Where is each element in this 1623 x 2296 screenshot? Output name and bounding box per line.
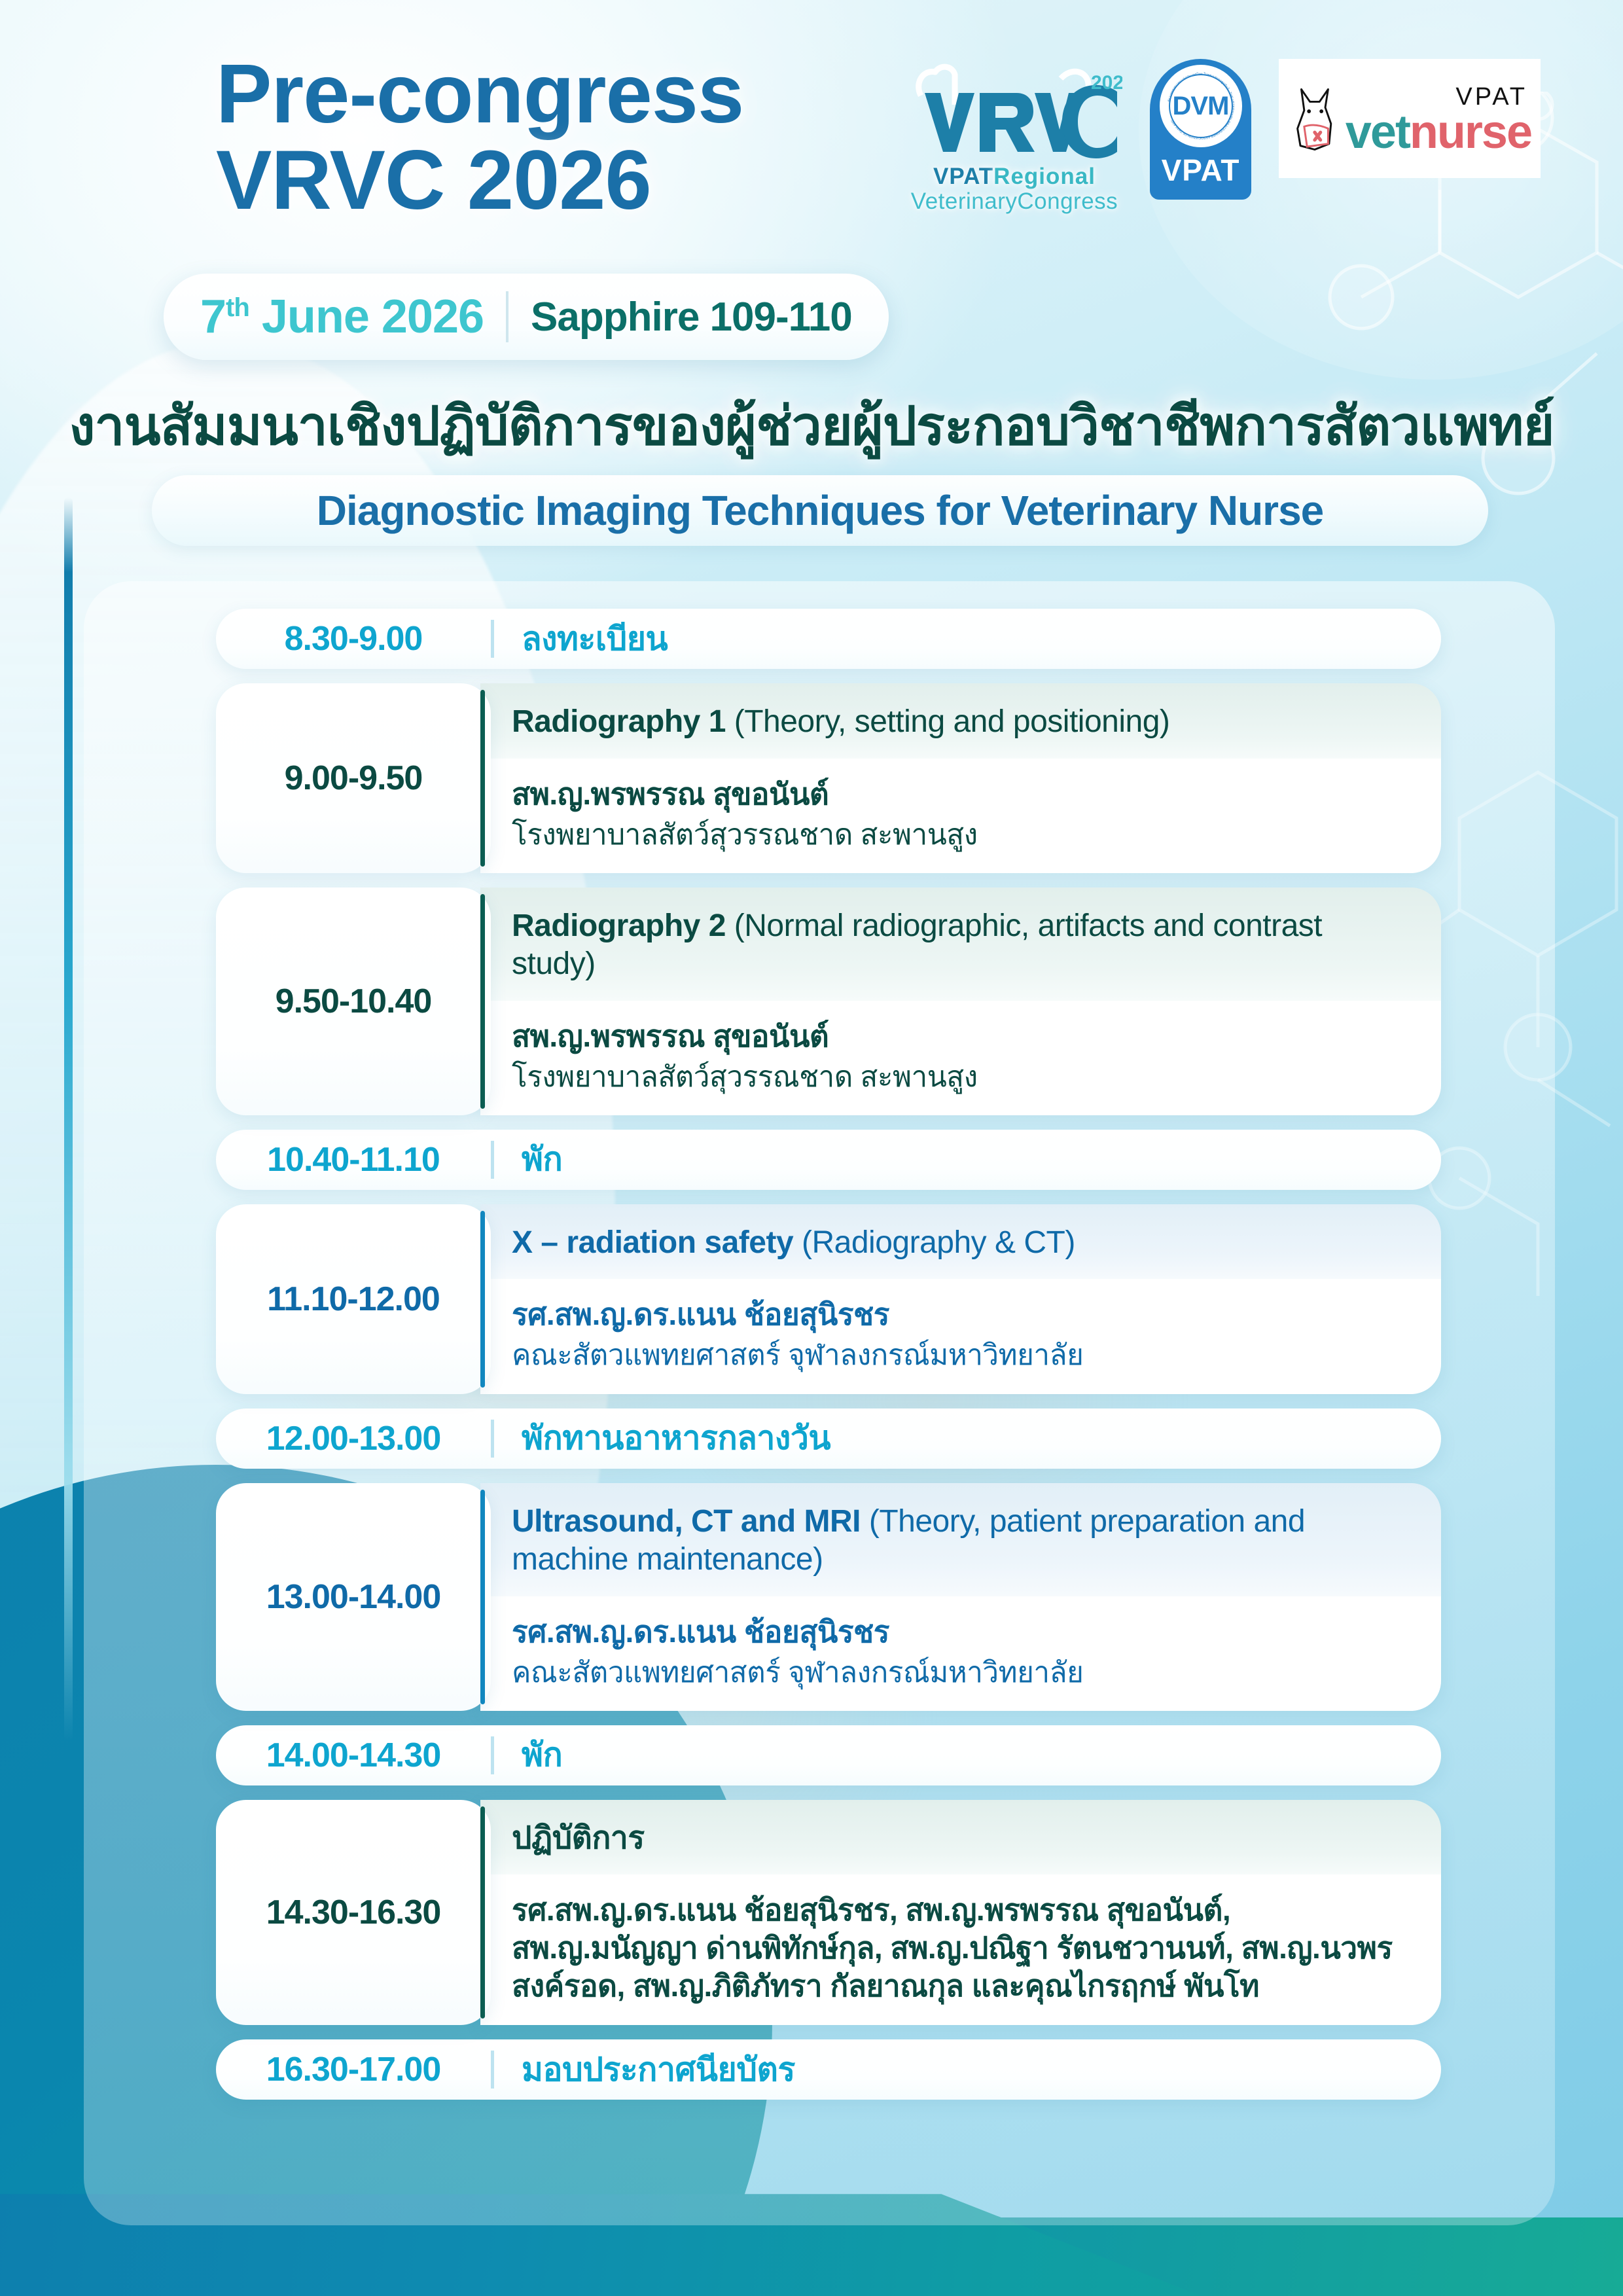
break-row-time: 12.00-13.00 xyxy=(216,1419,491,1458)
schedule-break-row: 8.30-9.00ลงทะเบียน xyxy=(216,609,1441,669)
schedule-break-row: 14.00-14.30พัก xyxy=(216,1725,1441,1785)
session-speaker-name: สพ.ญ.พรพรรณ สุขอนันต์ xyxy=(512,1018,1407,1056)
schedule-break-row: 12.00-13.00พักทานอาหารกลางวัน xyxy=(216,1408,1441,1469)
event-date: 7th June 2026 xyxy=(200,290,484,344)
session-topic-title: X – radiation safety xyxy=(512,1225,802,1260)
session-time-card: 9.00-9.50 xyxy=(216,683,491,873)
schedule-session-row: 14.30-16.30ปฏิบัติการรศ.สพ.ญ.ดร.แนน ช้อย… xyxy=(216,1800,1441,2025)
vrvc-sub-bold: VPAT xyxy=(933,164,993,189)
break-row-time: 8.30-9.00 xyxy=(216,619,491,658)
session-speaker-name: รศ.สพ.ญ.ดร.แนน ช้อยสุนิรชร xyxy=(512,1613,1407,1651)
poster-canvas: Pre-congress VRVC 2026 2026 xyxy=(0,0,1623,2296)
schedule-break-row: 16.30-17.00มอบประกาศนียบัตร xyxy=(216,2039,1441,2100)
break-row-time: 14.00-14.30 xyxy=(216,1736,491,1775)
vrvc-subtitle-line2: VeterinaryCongress xyxy=(906,188,1122,215)
session-topic: X – radiation safety (Radiography & CT) xyxy=(480,1204,1441,1280)
session-speaker-name: สพ.ญ.พรพรรณ สุขอนันต์ xyxy=(512,776,1407,814)
title-line-1: Pre-congress xyxy=(216,51,890,137)
session-speaker-affiliation: โรงพยาบาลสัตว์สุวรรณชาด สะพานสูง xyxy=(512,816,1407,853)
vpat-dvm-logo: สัตวแพทยสมาคมแห่งประเทศไทย ในพระบรมราชูป… xyxy=(1150,59,1251,200)
break-row-label: มอบประกาศนียบัตร xyxy=(494,2044,795,2096)
session-speaker-affiliation: โรงพยาบาลสัตว์สุวรรณชาด สะพานสูง xyxy=(512,1058,1407,1096)
session-accent-bar xyxy=(480,1490,485,1704)
title-line-2: VRVC 2026 xyxy=(216,137,890,224)
vpat-badge-word: VPAT xyxy=(1162,152,1240,188)
date-day: 7 xyxy=(200,291,226,343)
schedule-session-row: 11.10-12.00X – radiation safety (Radiogr… xyxy=(216,1204,1441,1394)
session-speaker-affiliation: คณะสัตวแพทยศาสตร์ จุฬาลงกรณ์มหาวิทยาลัย xyxy=(512,1336,1407,1374)
session-content: Radiography 2 (Normal radiographic, arti… xyxy=(480,888,1441,1115)
session-speaker-block: สพ.ญ.พรพรรณ สุขอนันต์โรงพยาบาลสัตว์สุวรร… xyxy=(480,759,1441,873)
break-row-label: พัก xyxy=(494,1134,562,1185)
session-topic-title: ปฏิบัติการ xyxy=(512,1821,645,1856)
dog-nurse-icon xyxy=(1288,69,1342,168)
break-row-body: 8.30-9.00ลงทะเบียน xyxy=(216,609,1441,669)
session-accent-bar xyxy=(480,1806,485,2018)
session-time-card: 9.50-10.40 xyxy=(216,888,491,1115)
session-topic: Radiography 2 (Normal radiographic, arti… xyxy=(480,888,1441,1001)
session-speaker-affiliation: คณะสัตวแพทยศาสตร์ จุฬาลงกรณ์มหาวิทยาลัย xyxy=(512,1654,1407,1691)
session-speaker-block: รศ.สพ.ญ.ดร.แนน ช้อยสุนิรชรคณะสัตวแพทยศาส… xyxy=(480,1596,1441,1711)
vpat-badge: สัตวแพทยสมาคมแห่งประเทศไทย ในพระบรมราชูป… xyxy=(1150,59,1251,200)
vrvc-logo: 2026 VPATRegional VeterinaryCongress xyxy=(906,59,1122,215)
session-time: 9.00-9.50 xyxy=(285,759,423,798)
session-row-body: 14.30-16.30ปฏิบัติการรศ.สพ.ญ.ดร.แนน ช้อย… xyxy=(216,1800,1441,2025)
session-topic-title: Radiography 2 xyxy=(512,908,734,943)
vrvc-mark-icon: 2026 xyxy=(906,59,1122,164)
page-title: Pre-congress VRVC 2026 xyxy=(216,51,890,224)
session-time: 9.50-10.40 xyxy=(276,982,432,1021)
session-speaker-block: รศ.สพ.ญ.ดร.แนน ช้อยสุนิรชร, สพ.ญ.พรพรรณ … xyxy=(480,1874,1441,2025)
session-topic: Radiography 1 (Theory, setting and posit… xyxy=(480,683,1441,759)
session-time-card: 11.10-12.00 xyxy=(216,1204,491,1394)
session-content: Ultrasound, CT and MRI (Theory, patient … xyxy=(480,1483,1441,1711)
date-ordinal-suffix: th xyxy=(226,293,249,322)
subtitle-text: Diagnostic Imaging Techniques for Veteri… xyxy=(317,486,1324,535)
schedule-session-row: 9.00-9.50Radiography 1 (Theory, setting … xyxy=(216,683,1441,873)
break-row-time: 16.30-17.00 xyxy=(216,2050,491,2089)
session-speaker-block: สพ.ญ.พรพรรณ สุขอนันต์โรงพยาบาลสัตว์สุวรร… xyxy=(480,1001,1441,1115)
session-content: X – radiation safety (Radiography & CT)ร… xyxy=(480,1204,1441,1394)
session-topic: ปฏิบัติการ xyxy=(480,1800,1441,1875)
vpat-seal-inner: DVM xyxy=(1169,74,1233,138)
event-venue: Sapphire 109-110 xyxy=(531,294,852,340)
schedule-list: 8.30-9.00ลงทะเบียน9.00-9.50Radiography 1… xyxy=(216,609,1441,2114)
date-venue-divider xyxy=(506,291,508,342)
session-content: ปฏิบัติการรศ.สพ.ญ.ดร.แนน ช้อยสุนิรชร, สพ… xyxy=(480,1800,1441,2025)
subtitle-pill: Diagnostic Imaging Techniques for Veteri… xyxy=(152,475,1488,546)
break-row-body: 16.30-17.00มอบประกาศนียบัตร xyxy=(216,2039,1441,2100)
break-row-body: 12.00-13.00พักทานอาหารกลางวัน xyxy=(216,1408,1441,1469)
date-month-year: June 2026 xyxy=(249,291,484,343)
session-row-body: 13.00-14.00Ultrasound, CT and MRI (Theor… xyxy=(216,1483,1441,1711)
schedule-break-row: 10.40-11.10พัก xyxy=(216,1130,1441,1190)
vpat-vetnurse-logo: VPAT vetnurse xyxy=(1279,59,1541,178)
session-content: Radiography 1 (Theory, setting and posit… xyxy=(480,683,1441,873)
session-time: 11.10-12.00 xyxy=(267,1280,440,1319)
break-row-time: 10.40-11.10 xyxy=(216,1140,491,1179)
session-row-body: 9.00-9.50Radiography 1 (Theory, setting … xyxy=(216,683,1441,873)
session-accent-bar xyxy=(480,690,485,867)
vrvc-sub-rest: Regional xyxy=(993,164,1096,189)
vrvc-subtitle-line1: VPATRegional xyxy=(906,164,1122,190)
session-row-body: 9.50-10.40Radiography 2 (Normal radiogra… xyxy=(216,888,1441,1115)
session-topic: Ultrasound, CT and MRI (Theory, patient … xyxy=(480,1483,1441,1596)
vpat-seal: สัตวแพทยสมาคมแห่งประเทศไทย ในพระบรมราชูป… xyxy=(1160,65,1242,147)
session-time-card: 13.00-14.00 xyxy=(216,1483,491,1711)
vetnurse-wordmark: VPAT vetnurse xyxy=(1346,83,1531,154)
svg-text:2026: 2026 xyxy=(1091,72,1122,94)
session-topic-title: Radiography 1 xyxy=(512,704,734,739)
vpat-seal-letters: DVM xyxy=(1173,92,1229,121)
thai-headline: งานสัมมนาเชิงปฏิบัติการของผู้ช่วยผู้ประก… xyxy=(0,384,1623,469)
session-topic-detail: (Radiography & CT) xyxy=(802,1225,1075,1260)
session-topic-detail: (Theory, setting and positioning) xyxy=(734,704,1170,739)
vetnurse-nurse: nurse xyxy=(1410,106,1531,158)
session-speaker-name: รศ.สพ.ญ.ดร.แนน ช้อยสุนิรชร, สพ.ญ.พรพรรณ … xyxy=(512,1892,1407,2005)
vetnurse-main-label: vetnurse xyxy=(1346,111,1531,154)
date-venue-pill: 7th June 2026 Sapphire 109-110 xyxy=(164,274,889,360)
session-speaker-block: รศ.สพ.ญ.ดร.แนน ช้อยสุนิรชรคณะสัตวแพทยศาส… xyxy=(480,1279,1441,1393)
session-row-body: 11.10-12.00X – radiation safety (Radiogr… xyxy=(216,1204,1441,1394)
poster-header: Pre-congress VRVC 2026 2026 xyxy=(0,0,1623,576)
session-topic-title: Ultrasound, CT and MRI xyxy=(512,1504,869,1539)
left-accent-line xyxy=(64,497,73,1741)
session-time: 14.30-16.30 xyxy=(266,1893,441,1932)
session-time: 13.00-14.00 xyxy=(266,1577,441,1617)
break-row-body: 14.00-14.30พัก xyxy=(216,1725,1441,1785)
vetnurse-vet: vet xyxy=(1346,106,1410,158)
break-row-label: ลงทะเบียน xyxy=(494,613,668,665)
break-row-label: พักทานอาหารกลางวัน xyxy=(494,1412,830,1464)
logo-group: 2026 VPATRegional VeterinaryCongress สัต… xyxy=(906,59,1541,215)
session-speaker-name: รศ.สพ.ญ.ดร.แนน ช้อยสุนิรชร xyxy=(512,1296,1407,1334)
session-accent-bar xyxy=(480,1211,485,1388)
session-accent-bar xyxy=(480,894,485,1109)
break-row-label: พัก xyxy=(494,1729,562,1781)
break-row-body: 10.40-11.10พัก xyxy=(216,1130,1441,1190)
schedule-session-row: 9.50-10.40Radiography 2 (Normal radiogra… xyxy=(216,888,1441,1115)
schedule-session-row: 13.00-14.00Ultrasound, CT and MRI (Theor… xyxy=(216,1483,1441,1711)
session-time-card: 14.30-16.30 xyxy=(216,1800,491,2025)
